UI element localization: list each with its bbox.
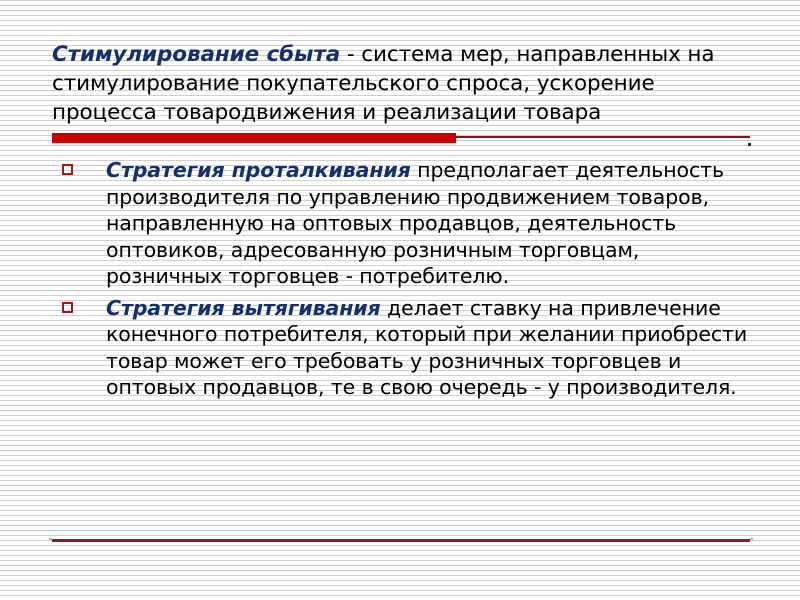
bullet-list: Стратегия проталкивания предполагает дея…: [56, 157, 756, 406]
list-item-text: Стратегия вытягивания делает ставку на п…: [106, 295, 756, 401]
list-item-lead-in: Стратегия проталкивания: [106, 158, 411, 182]
title-lead-in: Стимулирование сбыта: [52, 42, 340, 67]
slide-canvas: Стимулирование сбыта - система мер, напр…: [0, 0, 800, 600]
bottom-divider-rule: [52, 539, 750, 542]
list-item: Стратегия вытягивания делает ставку на п…: [56, 295, 756, 401]
hollow-square-bullet-icon: [62, 302, 73, 313]
list-item-text: Стратегия проталкивания предполагает дея…: [106, 157, 756, 290]
list-item: Стратегия проталкивания предполагает дея…: [56, 157, 756, 290]
slide-title-paragraph: Стимулирование сбыта - система мер, напр…: [52, 40, 752, 127]
title-divider-accent-bar: [52, 133, 456, 143]
bottom-divider-right-cap: [750, 538, 753, 540]
title-divider-end-dot: [748, 143, 751, 146]
list-item-lead-in: Стратегия вытягивания: [106, 296, 381, 320]
hollow-square-bullet-icon: [62, 164, 73, 175]
